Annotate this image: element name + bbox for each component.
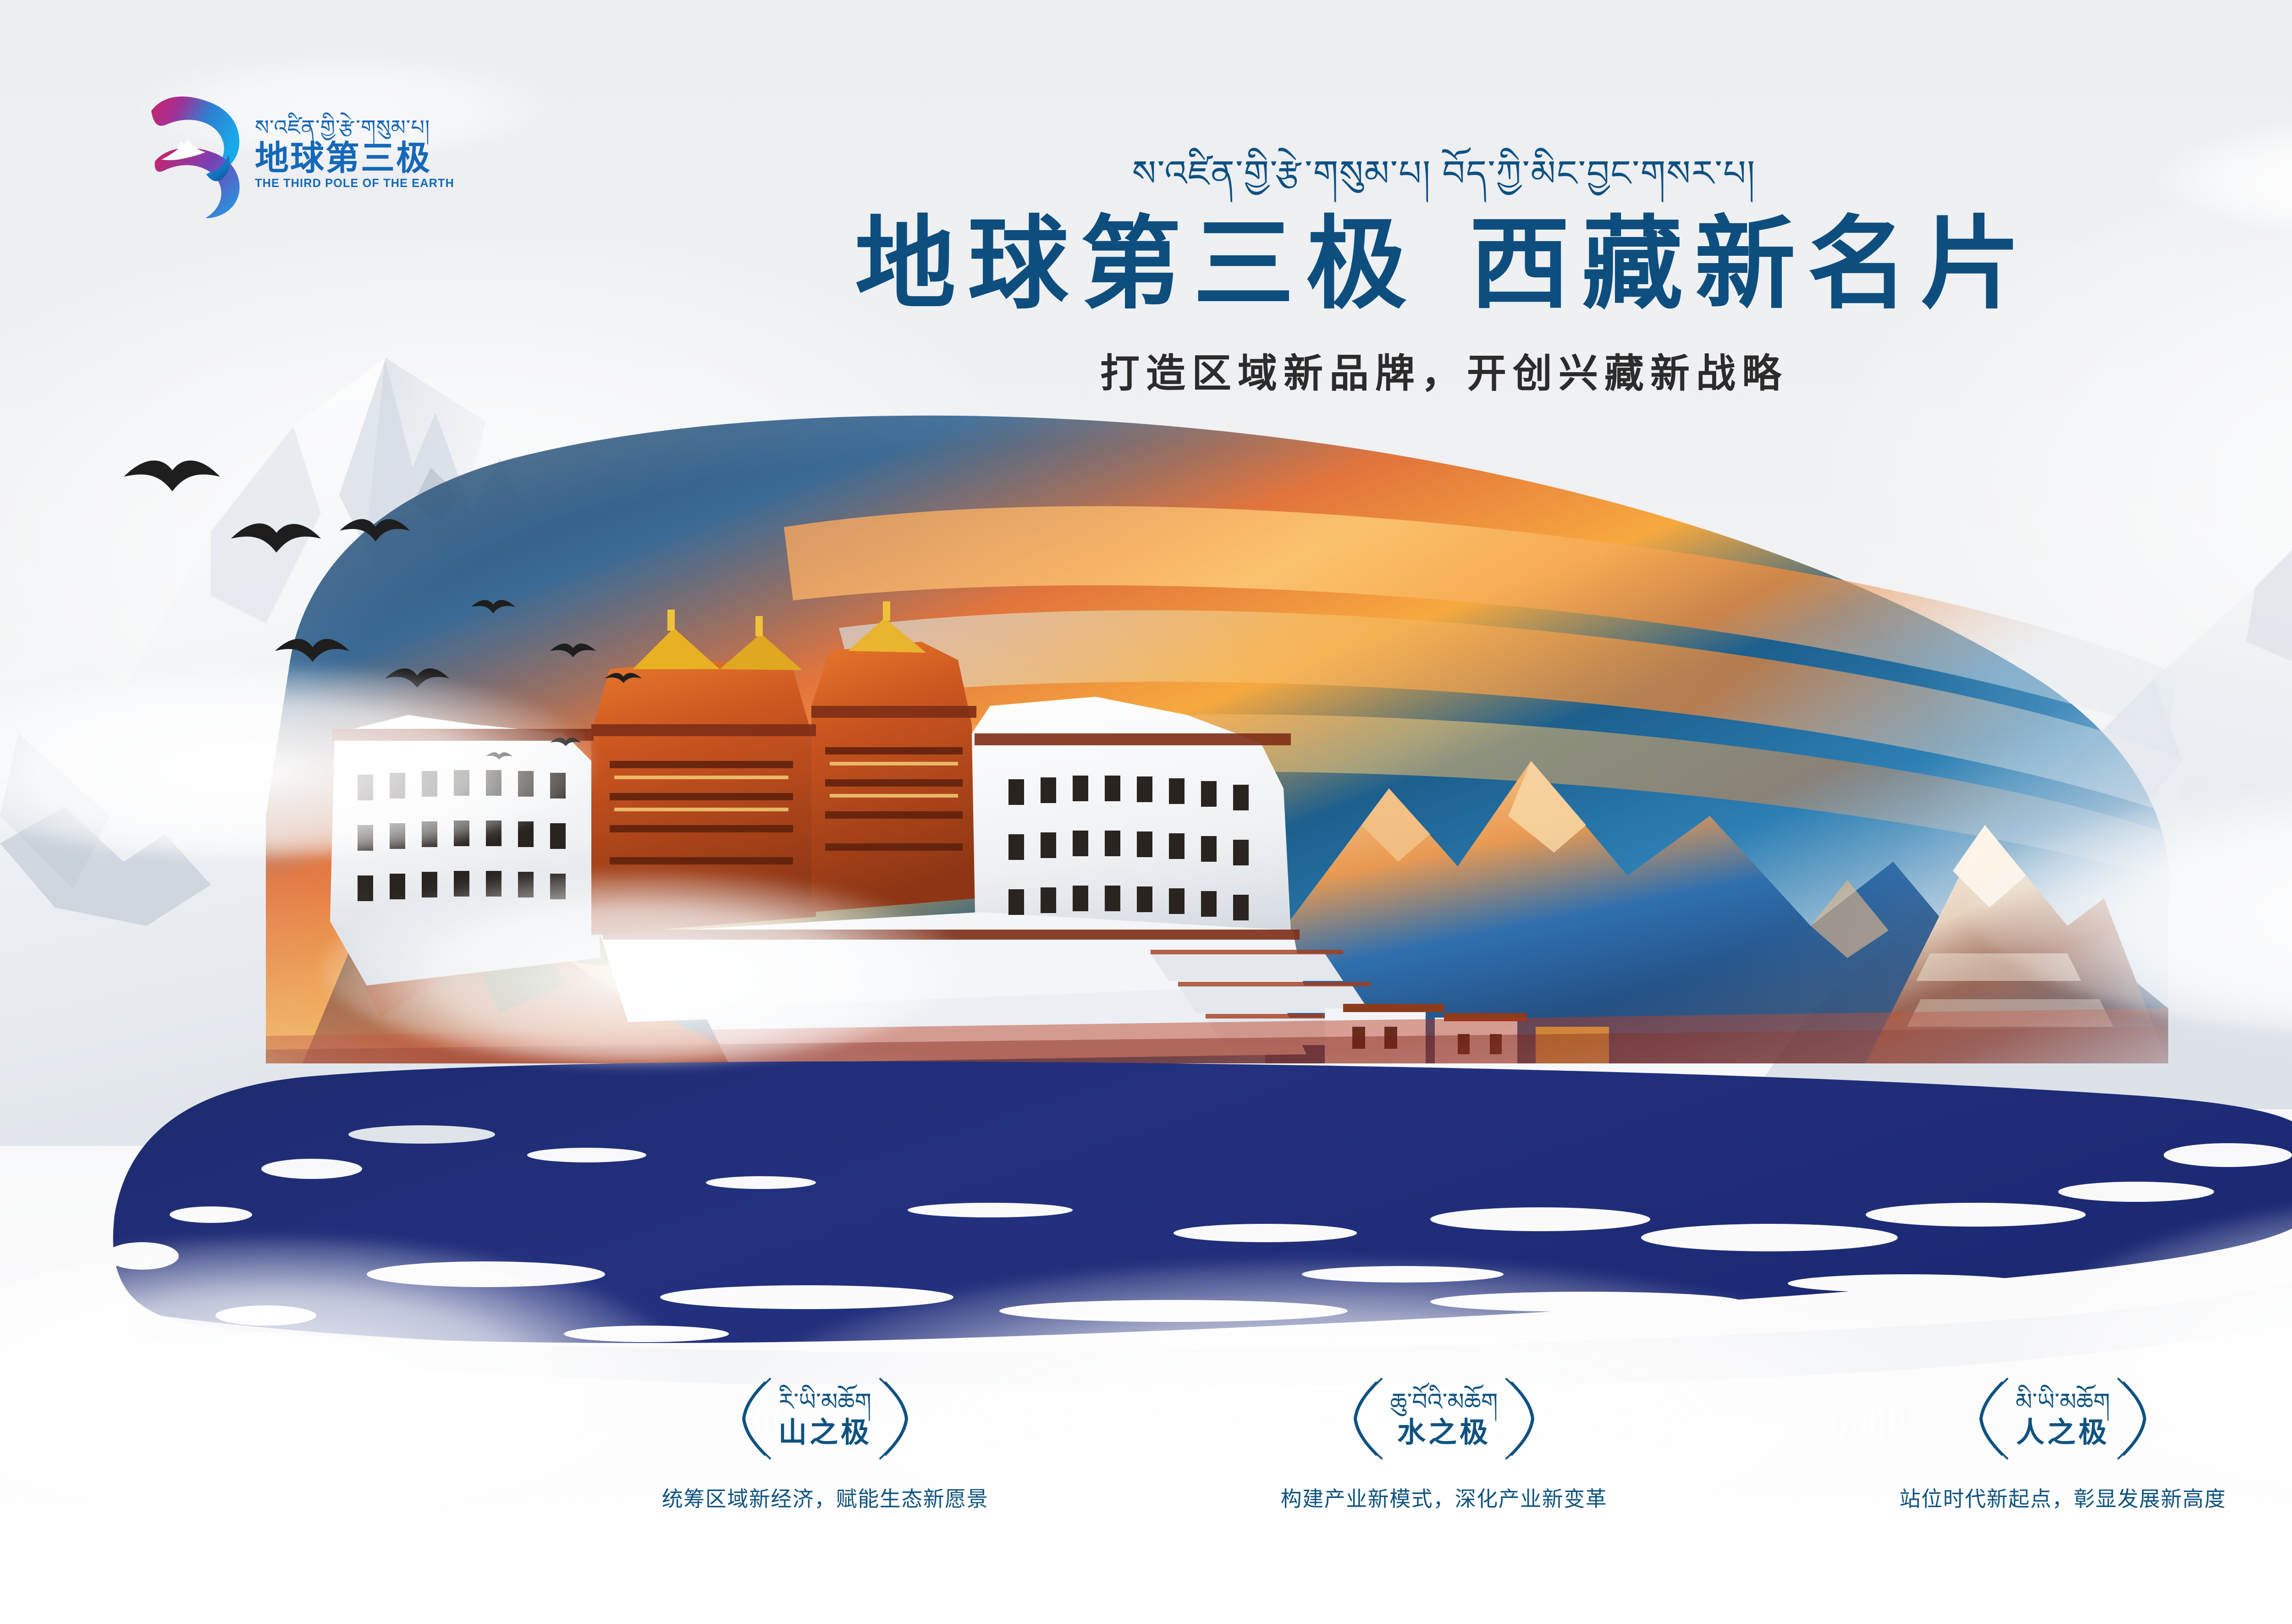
pole-item-mountain[interactable]: རི་ཡི་མཆོག 山之极 统筹区域新经济，赋能生态新愿景 <box>568 1375 1082 1513</box>
pole-item-people[interactable]: མི་ཡི་མཆོག 人之极 站位时代新起点，彰显发展新高度 <box>1806 1375 2292 1513</box>
pole-tibetan: མི་ཡི་མཆོག <box>2016 1389 2110 1416</box>
pole-names: མི་ཡི་མཆོག 人之极 <box>2016 1389 2110 1448</box>
pole-tibetan: རི་ཡི་མཆོག <box>779 1389 871 1416</box>
three-poles-row: རི་ཡི་མཆོག 山之极 统筹区域新经济，赋能生态新愿景 <box>0 1375 2292 1513</box>
bracket-left-icon <box>1972 1375 2011 1462</box>
pole-item-water[interactable]: ཆུ་བོའི་མཆོག 水之极 构建产业新模式，深化产业新变革 <box>1187 1375 1701 1513</box>
pole-tibetan: ཆུ་བོའི་མཆོག <box>1390 1389 1498 1416</box>
headline-tibetan: ས་འཛིན་གྱི་རྩེ་གསུམ་པ། བོད་ཀྱི་མིང་བྱང་ག… <box>0 151 2292 196</box>
poster-canvas: ས་འཛིན་གྱི་རྩེ་གསུམ་པ། 地球第三极 THE THIRD P… <box>0 0 2292 1624</box>
pole-description: 构建产业新模式，深化产业新变革 <box>1187 1482 1701 1513</box>
pole-names: ཆུ་བོའི་མཆོག 水之极 <box>1390 1389 1498 1448</box>
pole-chinese: 山之极 <box>778 1417 872 1448</box>
bracket-left-icon <box>734 1375 774 1462</box>
page-title: 地球第三极西藏新名片 <box>0 212 2292 317</box>
bracket-right-icon <box>876 1375 916 1462</box>
bracket-right-icon <box>1503 1375 1542 1462</box>
title-part-2: 西藏新名片 <box>1469 208 2033 320</box>
logo-tibetan: ས་འཛིན་གྱི་རྩེ་གསུམ་པ། <box>255 115 460 140</box>
cloud-right-low <box>1971 779 2292 1036</box>
headline-block: ས་འཛིན་གྱི་རྩེ་གསུམ་པ། བོད་ཀྱི་མིང་བྱང་ག… <box>0 151 2292 398</box>
bracket-right-icon <box>2115 1375 2154 1462</box>
bracket-left-icon <box>1346 1375 1385 1462</box>
pole-names: རི་ཡི་མཆོག 山之极 <box>778 1389 872 1448</box>
pole-chinese: 人之极 <box>2016 1417 2110 1448</box>
cloud-mid-left <box>0 665 596 857</box>
pole-heading: རི་ཡི་མཆོག 山之极 <box>568 1375 1082 1462</box>
page-subtitle: 打造区域新品牌，开创兴藏新战略 <box>0 341 2292 398</box>
cloud-left-low <box>321 871 963 1063</box>
pole-chinese: 水之极 <box>1397 1417 1491 1448</box>
title-part-1: 地球第三极 <box>855 208 1419 320</box>
pole-description: 站位时代新起点，彰显发展新高度 <box>1806 1482 2292 1513</box>
pole-heading: མི་ཡི་མཆོག 人之极 <box>1806 1375 2292 1462</box>
pole-description: 统筹区域新经济，赋能生态新愿景 <box>568 1482 1082 1513</box>
pole-heading: ཆུ་བོའི་མཆོག 水之极 <box>1187 1375 1701 1462</box>
